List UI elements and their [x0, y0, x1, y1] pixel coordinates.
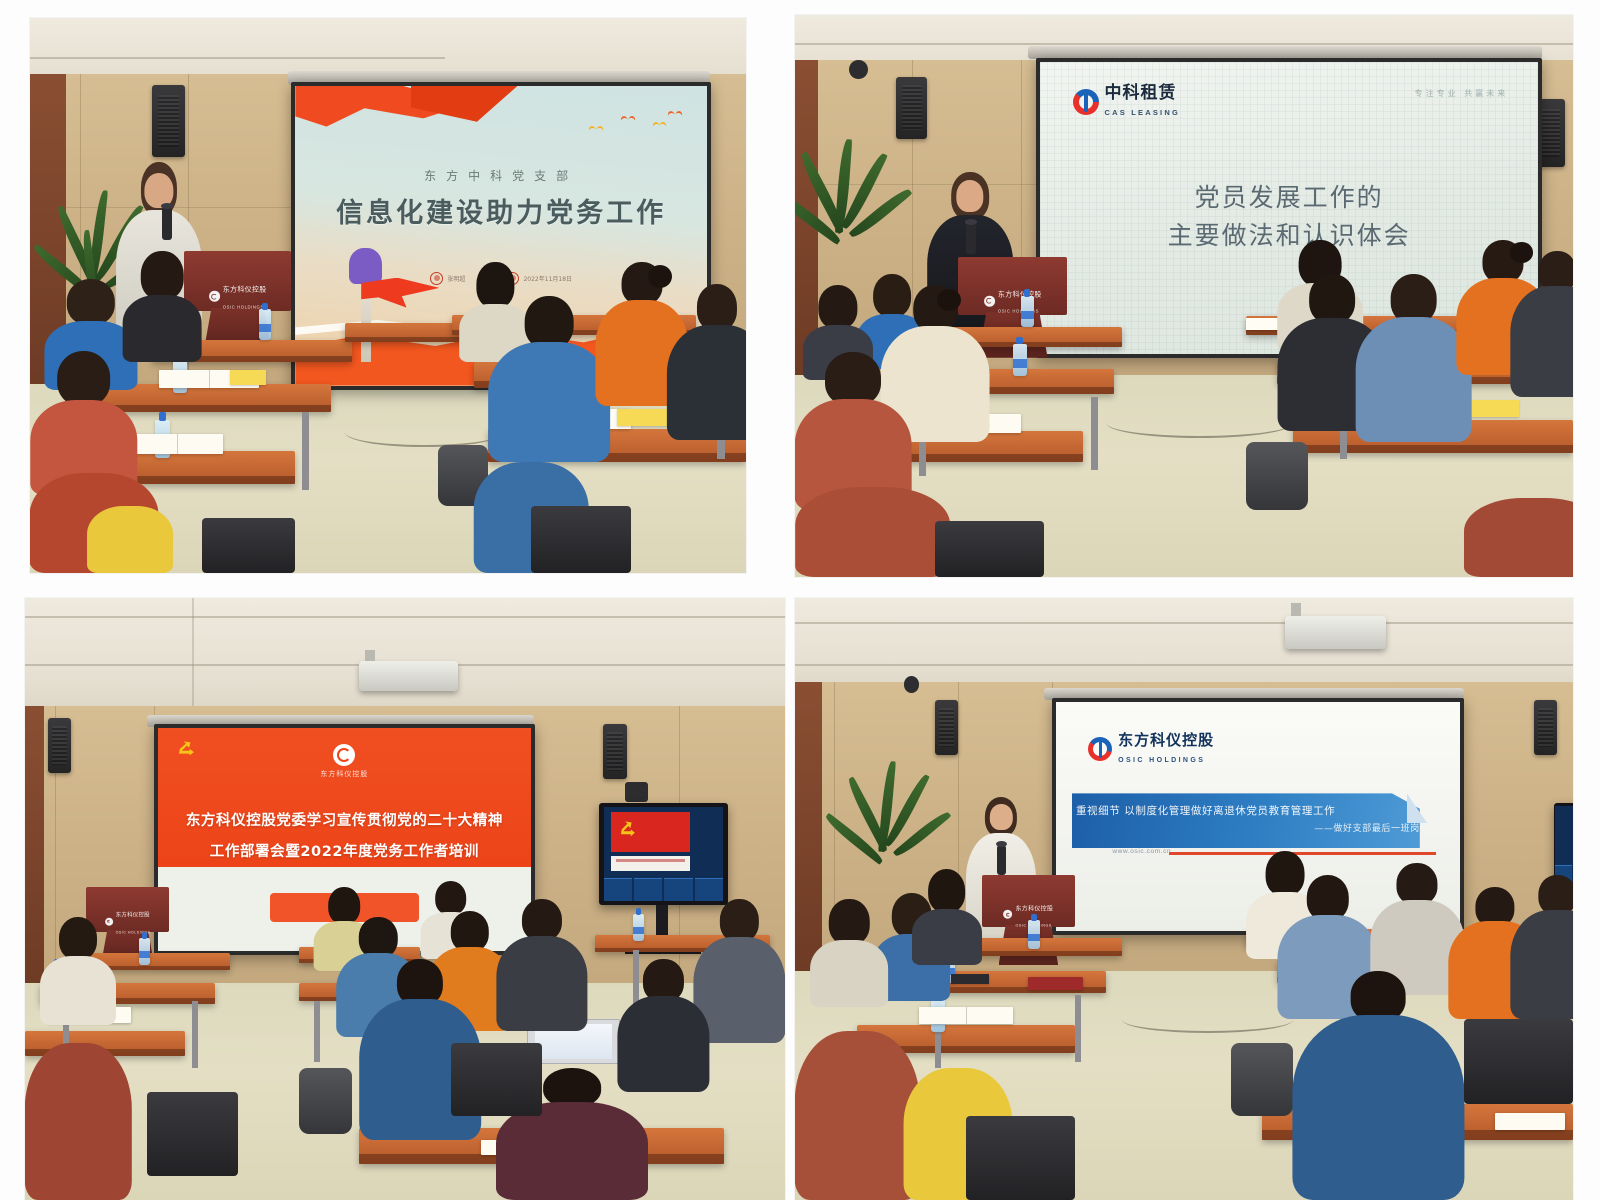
podium-label-cn: 东方科仪控股 — [223, 287, 267, 294]
logo-label-cn: 东方科仪控股 — [320, 769, 368, 779]
osic-logo: 东方科仪控股 — [320, 744, 368, 779]
open-notebook — [130, 434, 223, 454]
audience-member — [488, 296, 610, 463]
audience-member — [795, 1031, 919, 1200]
slide-title-line2: 工作部署会暨2022年度党务工作者培训 — [158, 840, 530, 861]
podium-label-cn: 东方科仪控股 — [116, 913, 150, 919]
backpack — [299, 1068, 352, 1134]
panel-top-left[interactable]: 东方中科党支部 信息化建设助力党务工作 张明超 2022年11月18日 — [30, 18, 746, 573]
audience-member — [1464, 498, 1573, 577]
microphone — [966, 223, 976, 254]
dome-camera — [849, 60, 868, 79]
water-bottle — [1013, 344, 1027, 377]
desk — [966, 938, 1122, 956]
microphone — [997, 845, 1006, 875]
participant-tiles — [604, 878, 723, 901]
cas-logo-icon — [1073, 89, 1099, 115]
slide-url: www.osic.com.cn — [1112, 848, 1171, 855]
audience-member — [667, 284, 746, 439]
wall-speaker — [1534, 700, 1557, 754]
slide-title-line1: 东方科仪控股党委学习宣传贯彻党的二十大精神 — [158, 809, 530, 830]
wall-speaker — [935, 700, 958, 754]
audience-member — [40, 917, 116, 1025]
panel-bottom-right[interactable]: 东方科仪控股 OSIC HOLDINGS 重视细节 以制度化管理做好离退休党员教… — [795, 598, 1573, 1200]
backpack — [1231, 1043, 1293, 1115]
banner-line2: ——做好支部最后一班岗 — [1076, 821, 1420, 834]
banner-line1: 重视细节 以制度化管理做好离退休党员教育管理工作 — [1076, 803, 1412, 818]
microphone — [162, 207, 172, 240]
chair — [935, 521, 1044, 577]
video-caption — [611, 856, 689, 871]
room-scene: 东方中科党支部 信息化建设助力党务工作 张明超 2022年11月18日 — [30, 18, 746, 573]
wall-speaker — [896, 77, 927, 139]
notebook — [1495, 1113, 1565, 1130]
backpack — [1246, 442, 1308, 509]
logo-label-cn: 东方科仪控股 — [1118, 731, 1214, 749]
panel-bottom-left[interactable]: 东方科仪控股 东方科仪控股党委学习宣传贯彻党的二十大精神 工作部署会暨2022年… — [25, 598, 785, 1200]
osic-logo-icon — [1003, 910, 1012, 919]
slide-tagline: 专注专业 共赢未来 — [1415, 88, 1509, 99]
audience-member — [795, 352, 912, 509]
osic-logo: 东方科仪控股 OSIC HOLDINGS — [1088, 732, 1214, 767]
audience-member — [1511, 875, 1573, 1019]
video-conference-monitor[interactable] — [599, 803, 728, 905]
open-notebook — [919, 1007, 1012, 1024]
wall-speaker — [603, 724, 627, 778]
party-flag-icon — [611, 812, 689, 852]
phone — [951, 974, 990, 984]
audience-member — [25, 1043, 131, 1200]
audience-member — [795, 487, 951, 577]
slide-subtitle: 东方中科党支部 — [295, 167, 707, 184]
wall-speaker — [152, 85, 185, 157]
audience-member — [1293, 971, 1464, 1200]
slide-title-line1: 党员发展工作的 — [1040, 179, 1538, 218]
video-camera — [625, 782, 648, 802]
chair — [966, 1116, 1075, 1200]
ceiling-projector — [1285, 616, 1386, 649]
audience-member — [1511, 251, 1573, 397]
ceiling-projector — [359, 661, 458, 691]
audience-member — [123, 251, 202, 362]
water-bottle — [633, 914, 644, 940]
podium-label-cn: 东方科仪控股 — [998, 292, 1042, 299]
audience-member — [912, 869, 982, 965]
osic-logo-icon — [333, 744, 355, 766]
room-scene: 东方科仪控股 东方科仪控股党委学习宣传贯彻党的二十大精神 工作部署会暨2022年… — [25, 598, 785, 1200]
photo-collage: 东方中科党支部 信息化建设助力党务工作 张明超 2022年11月18日 — [0, 0, 1600, 1200]
room-scene: 东方科仪控股 OSIC HOLDINGS 重视细节 以制度化管理做好离退休党员教… — [795, 598, 1573, 1200]
osic-logo-icon — [1088, 737, 1112, 761]
slide-title: 信息化建设助力党务工作 — [295, 191, 707, 230]
logo-label-en: CAS LEASING — [1105, 108, 1180, 117]
chair — [147, 1092, 238, 1176]
room-scene: 中科租赁 CAS LEASING 专注专业 共赢未来 党员发展工作的 主要做法和… — [795, 15, 1573, 577]
audience-member — [811, 899, 889, 1007]
logo-label-en: OSIC HOLDINGS — [1118, 757, 1205, 764]
audience-member — [1355, 274, 1472, 443]
chair — [1464, 1019, 1573, 1103]
water-bottle — [1021, 296, 1034, 327]
panel-top-right[interactable]: 中科租赁 CAS LEASING 专注专业 共赢未来 党员发展工作的 主要做法和… — [795, 15, 1573, 577]
chair — [531, 506, 631, 573]
logo-label-cn: 中科租赁 — [1105, 83, 1177, 103]
birds-icon — [584, 110, 683, 146]
seal-icon — [430, 272, 443, 285]
wall-speaker — [48, 718, 71, 772]
yellow-paper — [230, 370, 266, 384]
water-bottle — [259, 309, 271, 340]
audience-member — [87, 506, 173, 573]
osic-logo-icon — [209, 291, 220, 302]
red-notebook — [1028, 977, 1082, 990]
chair — [202, 518, 295, 574]
water-bottle — [1028, 920, 1040, 949]
podium-label-cn: 东方科仪控股 — [1015, 906, 1053, 912]
water-bottle — [139, 938, 150, 964]
party-emblem-icon — [177, 740, 199, 758]
cas-leasing-logo: 中科租赁 CAS LEASING — [1073, 85, 1180, 120]
chair — [451, 1043, 542, 1115]
audience-member — [496, 899, 587, 1031]
podium-label-en: OSIC HOLDINGS — [223, 304, 264, 309]
